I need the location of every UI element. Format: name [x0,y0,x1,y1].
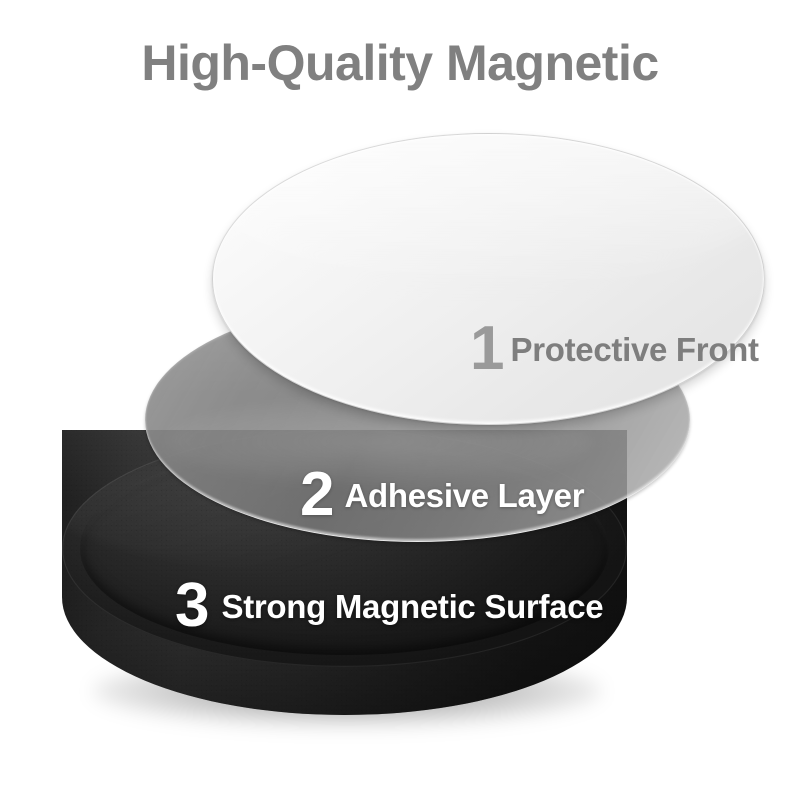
callout-number-2: 2 [300,464,334,526]
callout-label-1: Protective Front [510,333,758,366]
callout-label-2: Adhesive Layer [344,479,584,512]
callout-layer-1: 1 Protective Front [470,318,759,380]
callout-number-3: 3 [175,575,209,637]
callout-number-1: 1 [470,318,504,380]
layer-stack-illustration: 1 Protective Front 2 Adhesive Layer 3 St… [0,0,800,800]
callout-layer-3: 3 Strong Magnetic Surface [175,575,603,637]
front-disc-gloss [212,133,765,296]
callout-layer-2: 2 Adhesive Layer [300,464,584,526]
product-infographic: High-Quality Magnetic 1 Protective Front [0,0,800,800]
callout-label-3: Strong Magnetic Surface [221,590,603,623]
